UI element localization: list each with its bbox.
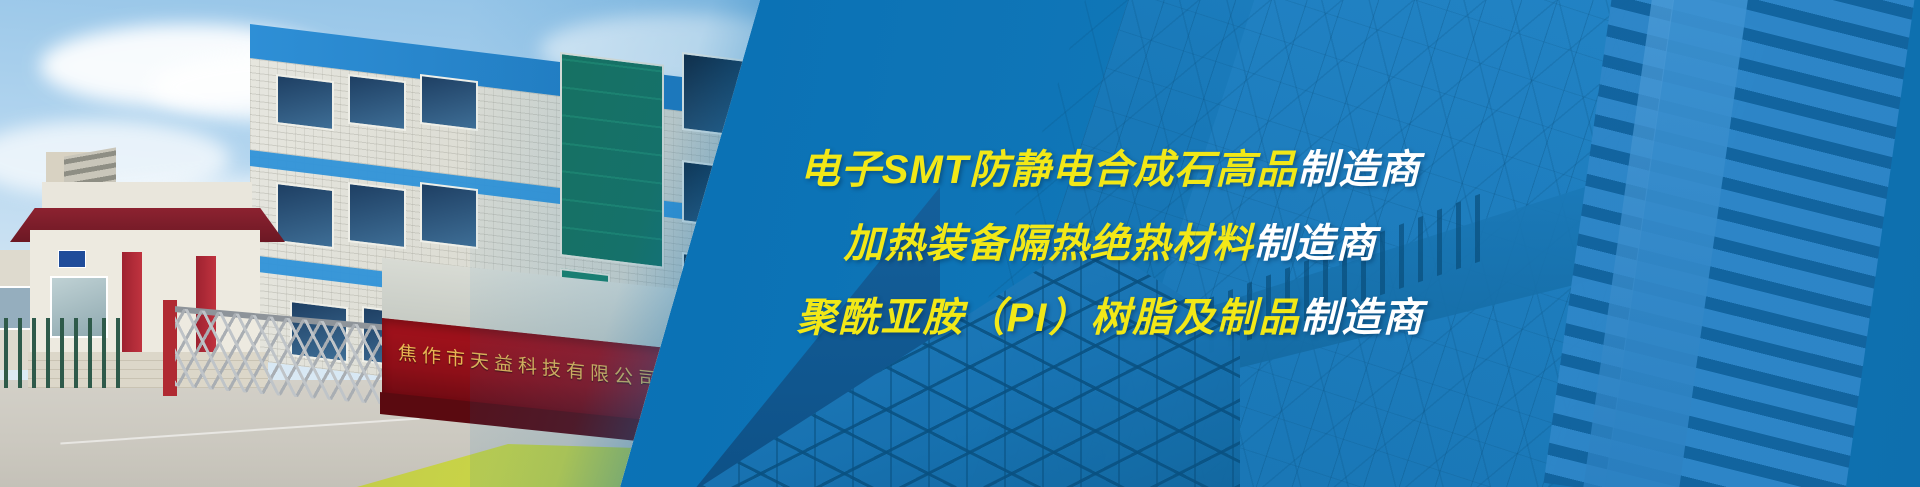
hero-banner: 焦作市天益科技有限公司 电子SMT防静电合成石高品制造商 加热装备隔热绝热材料制…: [0, 0, 1920, 487]
headline-group: 电子SMT防静电合成石高品制造商 加热装备隔热绝热材料制造商 聚酰亚胺（PI）树…: [0, 0, 1920, 487]
headline-line-2: 加热装备隔热绝热材料制造商: [844, 224, 1377, 264]
headline-line-3: 聚酰亚胺（PI）树脂及制品制造商: [797, 298, 1424, 338]
headline-line-3-yellow: 聚酰亚胺（PI）树脂及制品: [797, 296, 1301, 340]
headline-line-2-white: 制造商: [1254, 222, 1377, 266]
headline-line-2-yellow: 加热装备隔热绝热材料: [844, 222, 1254, 266]
headline-line-1: 电子SMT防静电合成石高品制造商: [800, 150, 1420, 190]
headline-line-3-white: 制造商: [1300, 296, 1423, 340]
headline-line-1-white: 制造商: [1297, 148, 1420, 192]
headline-line-1-yellow: 电子SMT防静电合成石高品: [800, 148, 1297, 192]
